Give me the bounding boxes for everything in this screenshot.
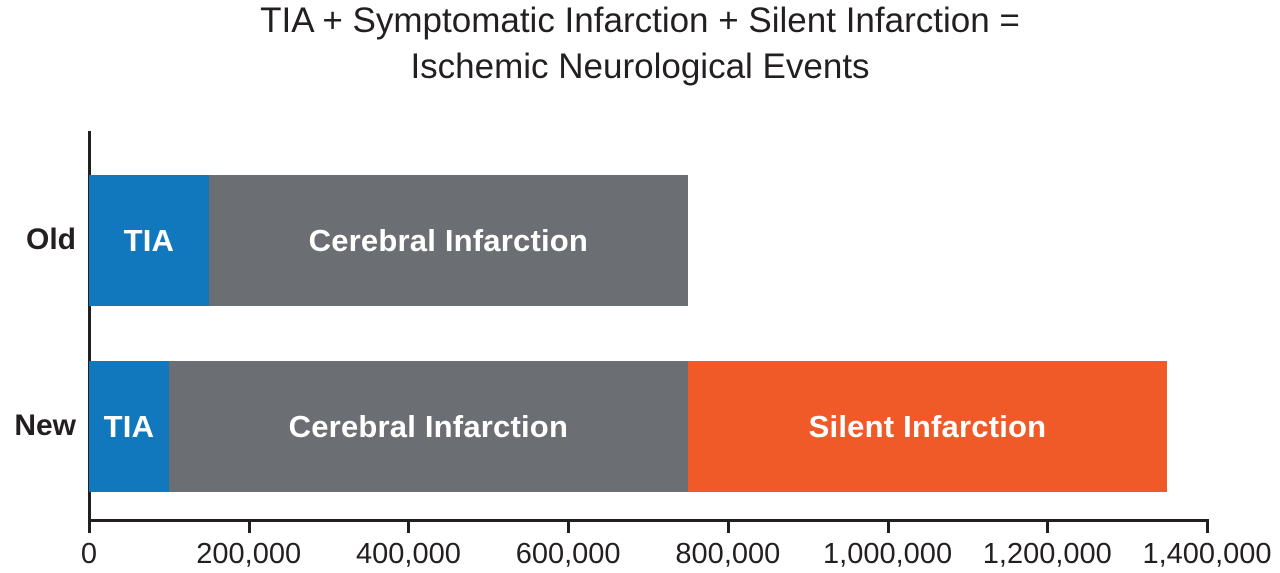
x-axis-tick — [407, 522, 410, 533]
plot-area: 0200,000400,000600,000800,0001,000,0001,… — [0, 0, 1280, 573]
x-axis-tick-label: 1,000,000 — [823, 537, 952, 571]
bar-segment[interactable]: Silent Infarction — [688, 361, 1167, 492]
bar-row: TIACerebral Infarction — [0, 175, 1280, 306]
bar-segment[interactable]: TIA — [89, 175, 209, 306]
x-axis-tick-label: 0 — [81, 537, 97, 571]
x-axis-tick — [88, 522, 91, 533]
x-axis-tick-label: 1,200,000 — [983, 537, 1112, 571]
x-axis-tick — [567, 522, 570, 533]
x-axis-tick-label: 600,000 — [516, 537, 621, 571]
bar-segment-label: TIA — [104, 410, 155, 444]
bar-segment-label: Cerebral Infarction — [309, 224, 588, 258]
bar-segment-label: TIA — [124, 224, 175, 258]
bar-row: TIACerebral InfarctionSilent Infarction — [0, 361, 1280, 492]
bar-segment[interactable]: Cerebral Infarction — [169, 361, 688, 492]
x-axis-tick — [248, 522, 251, 533]
x-axis-line — [88, 519, 1209, 522]
bar-segment[interactable]: TIA — [89, 361, 169, 492]
x-axis-tick-label: 1,400,000 — [1142, 537, 1271, 571]
bar-segment-label: Cerebral Infarction — [289, 410, 568, 444]
x-axis-tick-label: 800,000 — [675, 537, 780, 571]
category-label-old: Old — [0, 223, 76, 257]
x-axis-tick-label: 200,000 — [196, 537, 301, 571]
x-axis-tick — [887, 522, 890, 533]
category-label-new: New — [0, 409, 76, 443]
bar-segment-label: Silent Infarction — [809, 410, 1047, 444]
x-axis-tick — [727, 522, 730, 533]
bar-segment[interactable]: Cerebral Infarction — [209, 175, 688, 306]
x-axis-tick — [1046, 522, 1049, 533]
x-axis-tick-label: 400,000 — [356, 537, 461, 571]
x-axis-tick — [1206, 522, 1209, 533]
